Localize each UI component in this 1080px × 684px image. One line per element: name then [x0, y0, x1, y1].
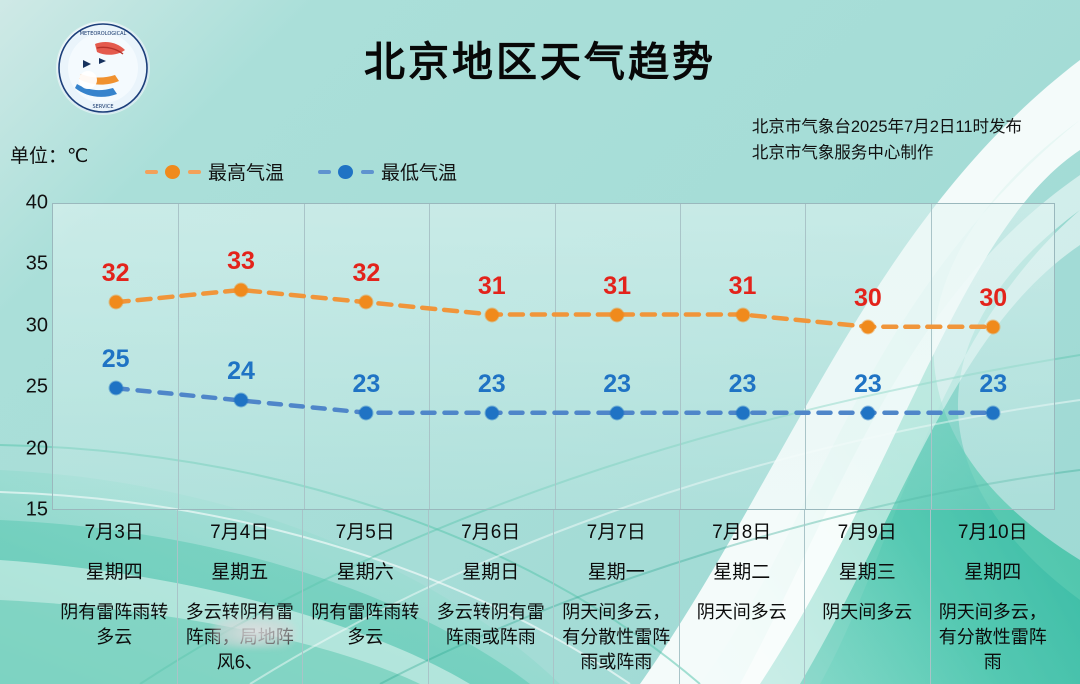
day-weekday: 星期五	[178, 560, 303, 586]
day-date: 7月10日	[931, 520, 1056, 546]
day-description: 多云转阴有雷阵雨，局地阵风6、	[178, 600, 303, 675]
data-point-low-3	[485, 406, 498, 419]
legend-label-low: 最低气温	[381, 158, 457, 185]
data-point-low-7	[987, 406, 1000, 419]
chart-series-lines	[53, 204, 1056, 511]
day-column-2: 7月5日星期六阴有雷阵雨转多云	[303, 510, 429, 684]
value-label-low-6: 23	[854, 370, 882, 399]
day-description: 阴天间多云，有分散性雷阵雨或阵雨	[554, 600, 679, 675]
day-date: 7月5日	[303, 520, 428, 546]
data-point-high-4	[611, 308, 624, 321]
day-column-1: 7月4日星期五多云转阴有雷阵雨，局地阵风6、	[178, 510, 304, 684]
unit-label: 单位：℃	[10, 141, 88, 168]
data-point-low-2	[360, 406, 373, 419]
day-columns: 7月3日星期四阴有雷阵雨转多云7月4日星期五多云转阴有雷阵雨，局地阵风6、7月5…	[52, 510, 1055, 684]
day-column-4: 7月7日星期一阴天间多云，有分散性雷阵雨或阵雨	[554, 510, 680, 684]
issuer-line-2: 北京市气象服务中心制作	[752, 140, 1022, 166]
day-column-0: 7月3日星期四阴有雷阵雨转多云	[52, 510, 178, 684]
value-label-low-4: 23	[603, 370, 631, 399]
day-date: 7月6日	[429, 520, 554, 546]
svg-text:SERVICE: SERVICE	[92, 104, 113, 110]
day-weekday: 星期四	[52, 560, 177, 586]
data-point-low-4	[611, 406, 624, 419]
value-label-high-5: 31	[729, 272, 757, 301]
day-column-6: 7月9日星期三阴天间多云	[805, 510, 931, 684]
data-point-high-3	[485, 308, 498, 321]
data-point-low-6	[861, 406, 874, 419]
issuer-info: 北京市气象台2025年7月2日11时发布 北京市气象服务中心制作	[752, 114, 1022, 166]
day-description: 阴有雷阵雨转多云	[52, 600, 177, 650]
data-point-high-2	[360, 296, 373, 309]
day-date: 7月3日	[52, 520, 177, 546]
issuer-line-1: 北京市气象台2025年7月2日11时发布	[752, 114, 1022, 140]
y-axis-tick-15: 15	[8, 499, 48, 522]
value-label-high-4: 31	[603, 272, 631, 301]
value-label-high-1: 33	[227, 247, 255, 276]
y-axis-tick-25: 25	[8, 376, 48, 399]
value-label-high-7: 30	[979, 284, 1007, 313]
day-weekday: 星期六	[303, 560, 428, 586]
day-date: 7月7日	[554, 520, 679, 546]
data-point-low-5	[736, 406, 749, 419]
chart-legend: 最高气温 最低气温	[145, 158, 457, 185]
day-date: 7月9日	[805, 520, 930, 546]
value-label-high-2: 32	[353, 259, 381, 288]
data-point-low-0	[109, 382, 122, 395]
day-weekday: 星期二	[680, 560, 805, 586]
y-axis-tick-40: 40	[8, 192, 48, 215]
legend-label-high: 最高气温	[208, 158, 284, 185]
value-label-high-0: 32	[102, 259, 130, 288]
value-label-high-3: 31	[478, 272, 506, 301]
day-description: 阴天间多云，有分散性雷阵雨	[931, 600, 1056, 675]
value-label-low-5: 23	[729, 370, 757, 399]
day-date: 7月8日	[680, 520, 805, 546]
day-column-3: 7月6日星期日多云转阴有雷阵雨或阵雨	[429, 510, 555, 684]
day-description: 多云转阴有雷阵雨或阵雨	[429, 600, 554, 650]
data-point-high-6	[861, 320, 874, 333]
chart-plot-area: 32333231313130302524232323232323	[52, 203, 1055, 510]
value-label-low-1: 24	[227, 357, 255, 386]
data-point-high-5	[736, 308, 749, 321]
y-axis-tick-30: 30	[8, 314, 48, 337]
day-column-5: 7月8日星期二阴天间多云	[680, 510, 806, 684]
legend-item-low: 最低气温	[318, 158, 457, 185]
value-label-low-0: 25	[102, 345, 130, 374]
day-weekday: 星期一	[554, 560, 679, 586]
day-description: 阴天间多云	[680, 600, 805, 625]
page-title: 北京地区天气趋势	[0, 28, 1080, 88]
y-axis-tick-20: 20	[8, 437, 48, 460]
data-point-high-1	[235, 283, 248, 296]
data-point-high-7	[987, 320, 1000, 333]
legend-marker-low	[318, 165, 374, 179]
legend-item-high: 最高气温	[145, 158, 284, 185]
day-description: 阴有雷阵雨转多云	[303, 600, 428, 650]
data-point-high-0	[109, 296, 122, 309]
value-label-high-6: 30	[854, 284, 882, 313]
day-weekday: 星期三	[805, 560, 930, 586]
y-axis-tick-35: 35	[8, 253, 48, 276]
day-column-7: 7月10日星期四阴天间多云，有分散性雷阵雨	[931, 510, 1056, 684]
value-label-low-7: 23	[979, 370, 1007, 399]
day-weekday: 星期日	[429, 560, 554, 586]
day-date: 7月4日	[178, 520, 303, 546]
value-label-low-2: 23	[353, 370, 381, 399]
value-label-low-3: 23	[478, 370, 506, 399]
day-description: 阴天间多云	[805, 600, 930, 625]
weather-trend-poster: METEOROLOGICAL SERVICE 北京地区天气趋势 北京市气象台20…	[0, 0, 1080, 684]
day-weekday: 星期四	[931, 560, 1056, 586]
data-point-low-1	[235, 394, 248, 407]
legend-marker-high	[145, 165, 201, 179]
